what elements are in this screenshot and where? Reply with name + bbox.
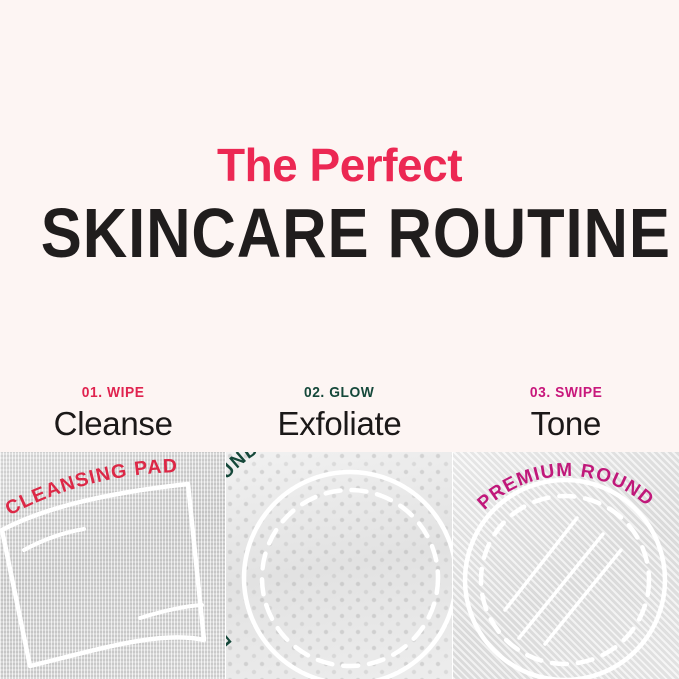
headline-block: The Perfect SKINCARE ROUTINE xyxy=(0,140,679,270)
step-kicker-glow: 02. GLOW xyxy=(235,384,443,401)
product-panel-premium-round: PREMIUM ROUND xyxy=(453,452,679,679)
product-label-exfoliating-round: EXFOLIATING ROUND xyxy=(226,452,263,653)
step-name-exfoliate: Exfoliate xyxy=(226,405,452,443)
round-pad-outer-circle xyxy=(244,472,452,679)
step-name-cleanse: Cleanse xyxy=(0,405,226,443)
page-title: SKINCARE ROUTINE xyxy=(41,196,639,270)
step-column-tone: 03. SWIPE Tone xyxy=(453,384,679,443)
step-kicker-swipe: 03. SWIPE xyxy=(462,384,670,401)
pad-fold-line-top xyxy=(24,529,84,550)
step-column-exfoliate: 02. GLOW Exfoliate xyxy=(226,384,452,443)
skincare-routine-infographic: The Perfect SKINCARE ROUTINE 01. WIPE Cl… xyxy=(0,0,679,679)
headline-script-line: The Perfect xyxy=(0,140,679,190)
premium-pad-quilt-lines xyxy=(505,518,621,644)
steps-row: 01. WIPE Cleanse 02. GLOW Exfoliate 03. … xyxy=(0,384,679,443)
step-name-tone: Tone xyxy=(453,405,679,443)
product-panel-exfoliating-round: EXFOLIATING ROUND xyxy=(226,452,452,679)
pad-outline xyxy=(2,484,204,666)
product-panel-cleansing-pad: CLEANSING PAD xyxy=(0,452,225,679)
pad-fold-line-bottom xyxy=(140,605,202,618)
product-photo-strip: CLEANSING PAD EXFOLIATING ROUND xyxy=(0,452,679,679)
premium-round-illustration: PREMIUM ROUND xyxy=(453,452,679,679)
round-pad-dashed-circle xyxy=(262,490,438,666)
exfoliating-round-illustration: EXFOLIATING ROUND xyxy=(226,452,452,679)
cleansing-pad-illustration: CLEANSING PAD xyxy=(0,452,225,679)
step-kicker-wipe: 01. WIPE xyxy=(9,384,217,401)
step-column-cleanse: 01. WIPE Cleanse xyxy=(0,384,226,443)
